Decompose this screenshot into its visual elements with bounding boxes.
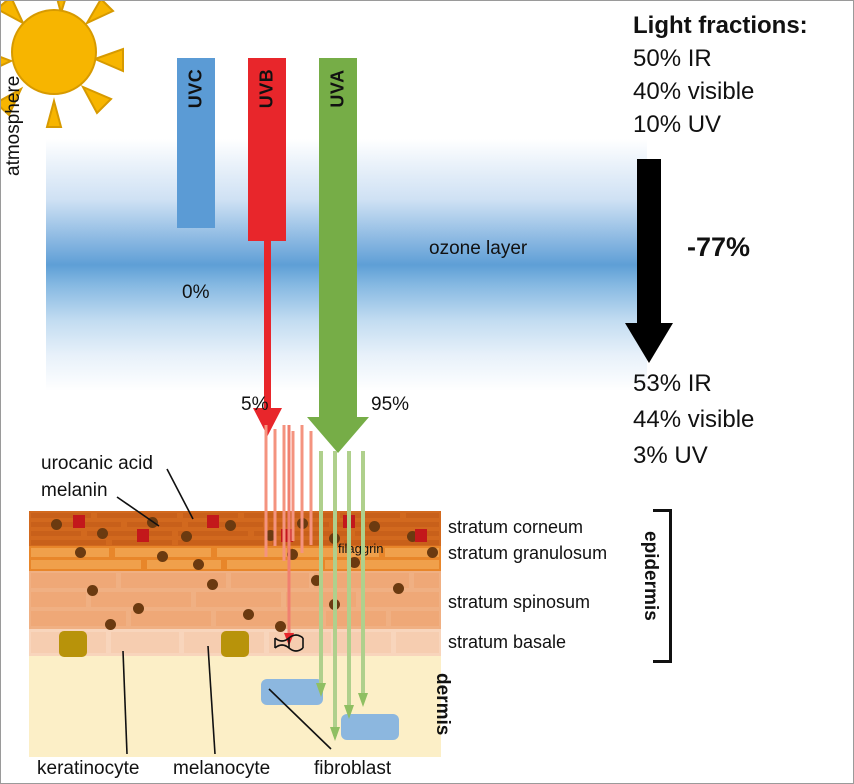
melanin-dot (147, 517, 158, 528)
melanocyte-cell (59, 631, 87, 657)
melanin-dot (133, 603, 144, 614)
urocanic-acid-marker (281, 529, 293, 542)
fraction-ir-top: 50% IR (633, 42, 808, 75)
melanin-dot (207, 579, 218, 590)
melanin-dot (225, 520, 236, 531)
urocanic-acid-marker (73, 515, 85, 528)
stratum-basale-label: stratum basale (448, 632, 566, 653)
attenuation-label: -77% (687, 232, 750, 263)
atmosphere-label: atmosphere (3, 16, 25, 176)
melanin-dot (427, 547, 438, 558)
uvc-transmission-label: 0% (182, 282, 209, 304)
filaggrin-label: filaggrin (338, 541, 384, 556)
urocanic-acid-marker (207, 515, 219, 528)
melanin-dot (393, 583, 404, 594)
light-fractions-heading: Light fractions: (633, 9, 808, 42)
stratum-granulosum-label: stratum granulosum (448, 543, 607, 564)
melanin-dot (311, 575, 322, 586)
melanin-label: melanin (41, 480, 108, 502)
urocanic-acid-marker (137, 529, 149, 542)
stratum-spinosum-layer (29, 571, 441, 629)
fraction-visible-top: 40% visible (633, 75, 808, 108)
urocanic-acid-marker (415, 529, 427, 542)
fraction-uv-bottom: 3% UV (633, 438, 754, 474)
melanin-dot (349, 557, 360, 568)
melanocyte-cell (221, 631, 249, 657)
melanin-dot (243, 609, 254, 620)
fibroblast-cell (341, 714, 399, 740)
melanin-dot (105, 619, 116, 630)
melanin-dot (87, 585, 98, 596)
uva-transmission-label: 95% (371, 394, 409, 416)
dermis-layer (29, 656, 441, 757)
ozone-layer-label: ozone layer (429, 238, 527, 260)
melanin-dot (265, 530, 276, 541)
fraction-visible-bottom: 44% visible (633, 402, 754, 438)
fraction-uv-top: 10% UV (633, 108, 808, 141)
melanin-dot (275, 621, 286, 632)
fibroblast-cell (261, 679, 323, 705)
melanin-dot (181, 531, 192, 542)
melanin-dot (329, 599, 340, 610)
melanin-dot (287, 549, 298, 560)
uvc-label: UVC (186, 61, 207, 117)
melanin-dot (97, 528, 108, 539)
light-fractions-panel: Light fractions: 50% IR 40% visible 10% … (633, 9, 808, 141)
diagram-canvas: atmosphere ozone layer 0% UVC UVB UVA 5%… (0, 0, 854, 784)
post-atmosphere-fractions-panel: 53% IR 44% visible 3% UV (633, 366, 754, 474)
dermis-label: dermis (431, 673, 453, 735)
urocanic-acid-label: urocanic acid (41, 453, 153, 475)
melanin-dot (51, 519, 62, 530)
melanin-dot (369, 521, 380, 532)
uvb-transmission-label: 5% (241, 394, 268, 416)
fibroblast-label: fibroblast (314, 758, 391, 780)
epidermis-label: epidermis (639, 531, 661, 621)
urocanic-acid-marker (343, 515, 355, 528)
melanin-dot (75, 547, 86, 558)
stratum-spinosum-label: stratum spinosum (448, 592, 590, 613)
fraction-ir-bottom: 53% IR (633, 366, 754, 402)
melanin-dot (297, 518, 308, 529)
melanocyte-label: melanocyte (173, 758, 270, 780)
melanin-dot (157, 551, 168, 562)
stratum-corneum-label: stratum corneum (448, 517, 583, 538)
uva-label: UVA (328, 61, 349, 117)
keratinocyte-label: keratinocyte (37, 758, 139, 780)
melanin-dot (193, 559, 204, 570)
uvb-label: UVB (257, 61, 278, 117)
